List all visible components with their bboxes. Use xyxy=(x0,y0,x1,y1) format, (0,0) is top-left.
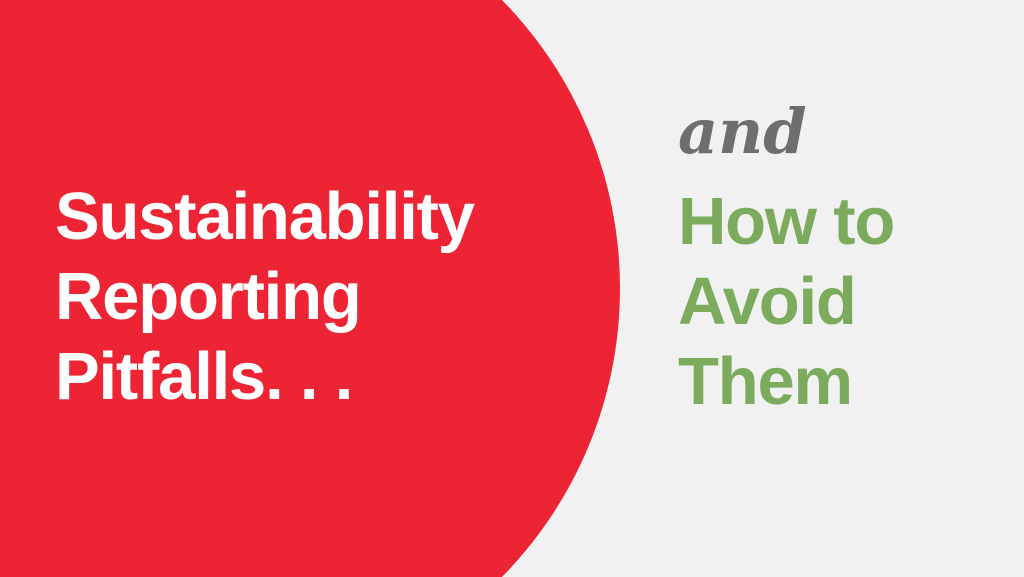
subheadline-line-2: Avoid xyxy=(678,262,1008,342)
headline-line-3: Pitfalls. . . xyxy=(55,337,595,417)
left-headline-block: Sustainability Reporting Pitfalls. . . xyxy=(55,177,595,417)
connector-word-and: and xyxy=(678,96,1008,168)
subheadline-line-3: Them xyxy=(678,342,1008,422)
headline-line-2: Reporting xyxy=(55,257,595,337)
headline-line-1: Sustainability xyxy=(55,177,595,257)
green-headline-group: How to Avoid Them xyxy=(678,182,1008,422)
right-headline-block: and How to Avoid Them xyxy=(678,96,1008,422)
title-slide: Sustainability Reporting Pitfalls. . . a… xyxy=(0,0,1024,577)
subheadline-line-1: How to xyxy=(678,182,1008,262)
